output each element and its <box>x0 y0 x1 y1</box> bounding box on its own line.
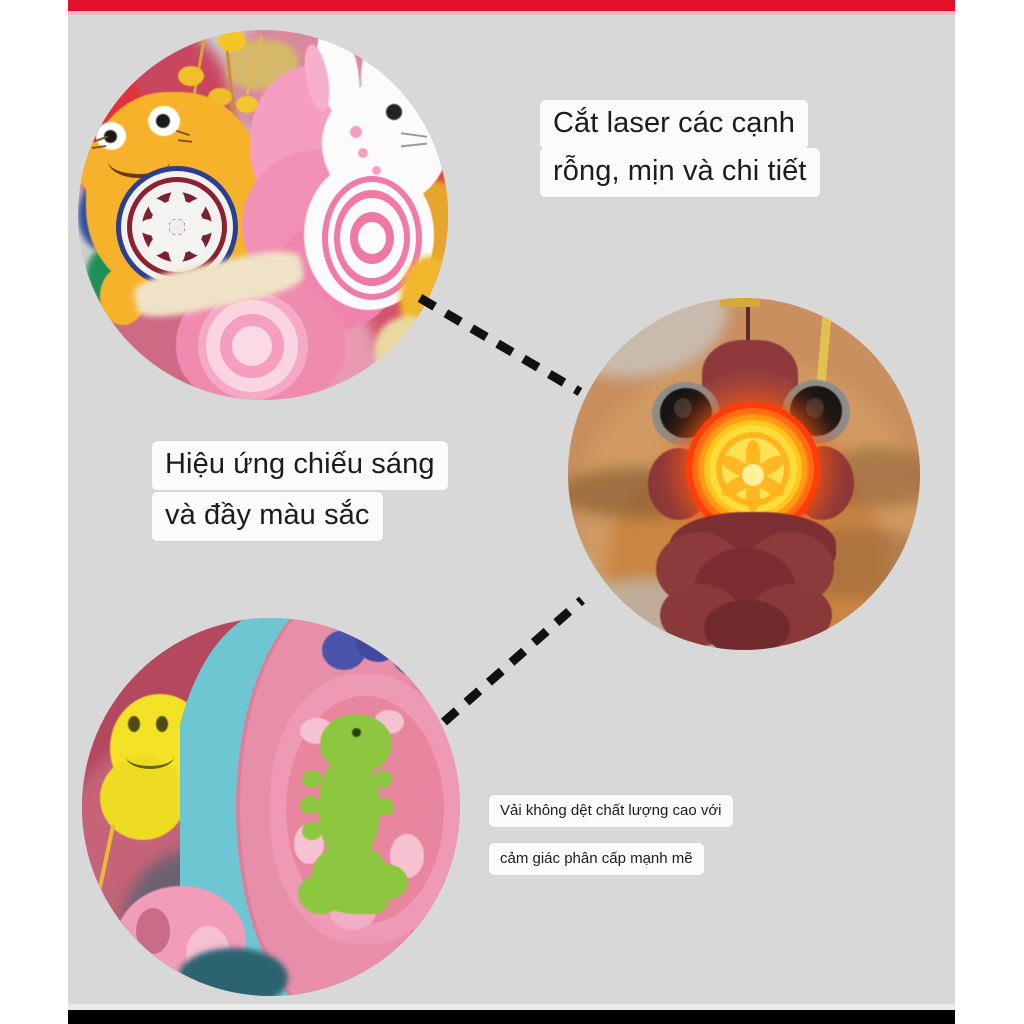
product-infographic: Cắt laser các cạnh rỗng, mịn và chi tiết… <box>0 0 1024 1024</box>
callout-laser-line1: Cắt laser các cạnh <box>540 100 808 149</box>
callout-fabric-line2: cảm giác phân cấp mạnh mẽ <box>489 843 704 875</box>
felt-craft-lantern-kits-photo <box>78 30 448 400</box>
callout-lighting-line1: Hiệu ứng chiếu sáng <box>152 441 448 490</box>
callout-laser-line2: rỗng, mịn và chi tiết <box>540 148 820 197</box>
illuminated-lantern-photo <box>568 298 920 650</box>
content-panel: Cắt laser các cạnh rỗng, mịn và chi tiết… <box>68 0 955 1010</box>
felt-layer-texture-photo <box>82 618 460 996</box>
callout-fabric-line1: Vải không dệt chất lượng cao với <box>489 795 733 827</box>
callout-lighting-line2: và đầy màu sắc <box>152 492 383 541</box>
top-red-accent-bar <box>68 0 955 11</box>
bottom-black-bar <box>68 1010 955 1024</box>
